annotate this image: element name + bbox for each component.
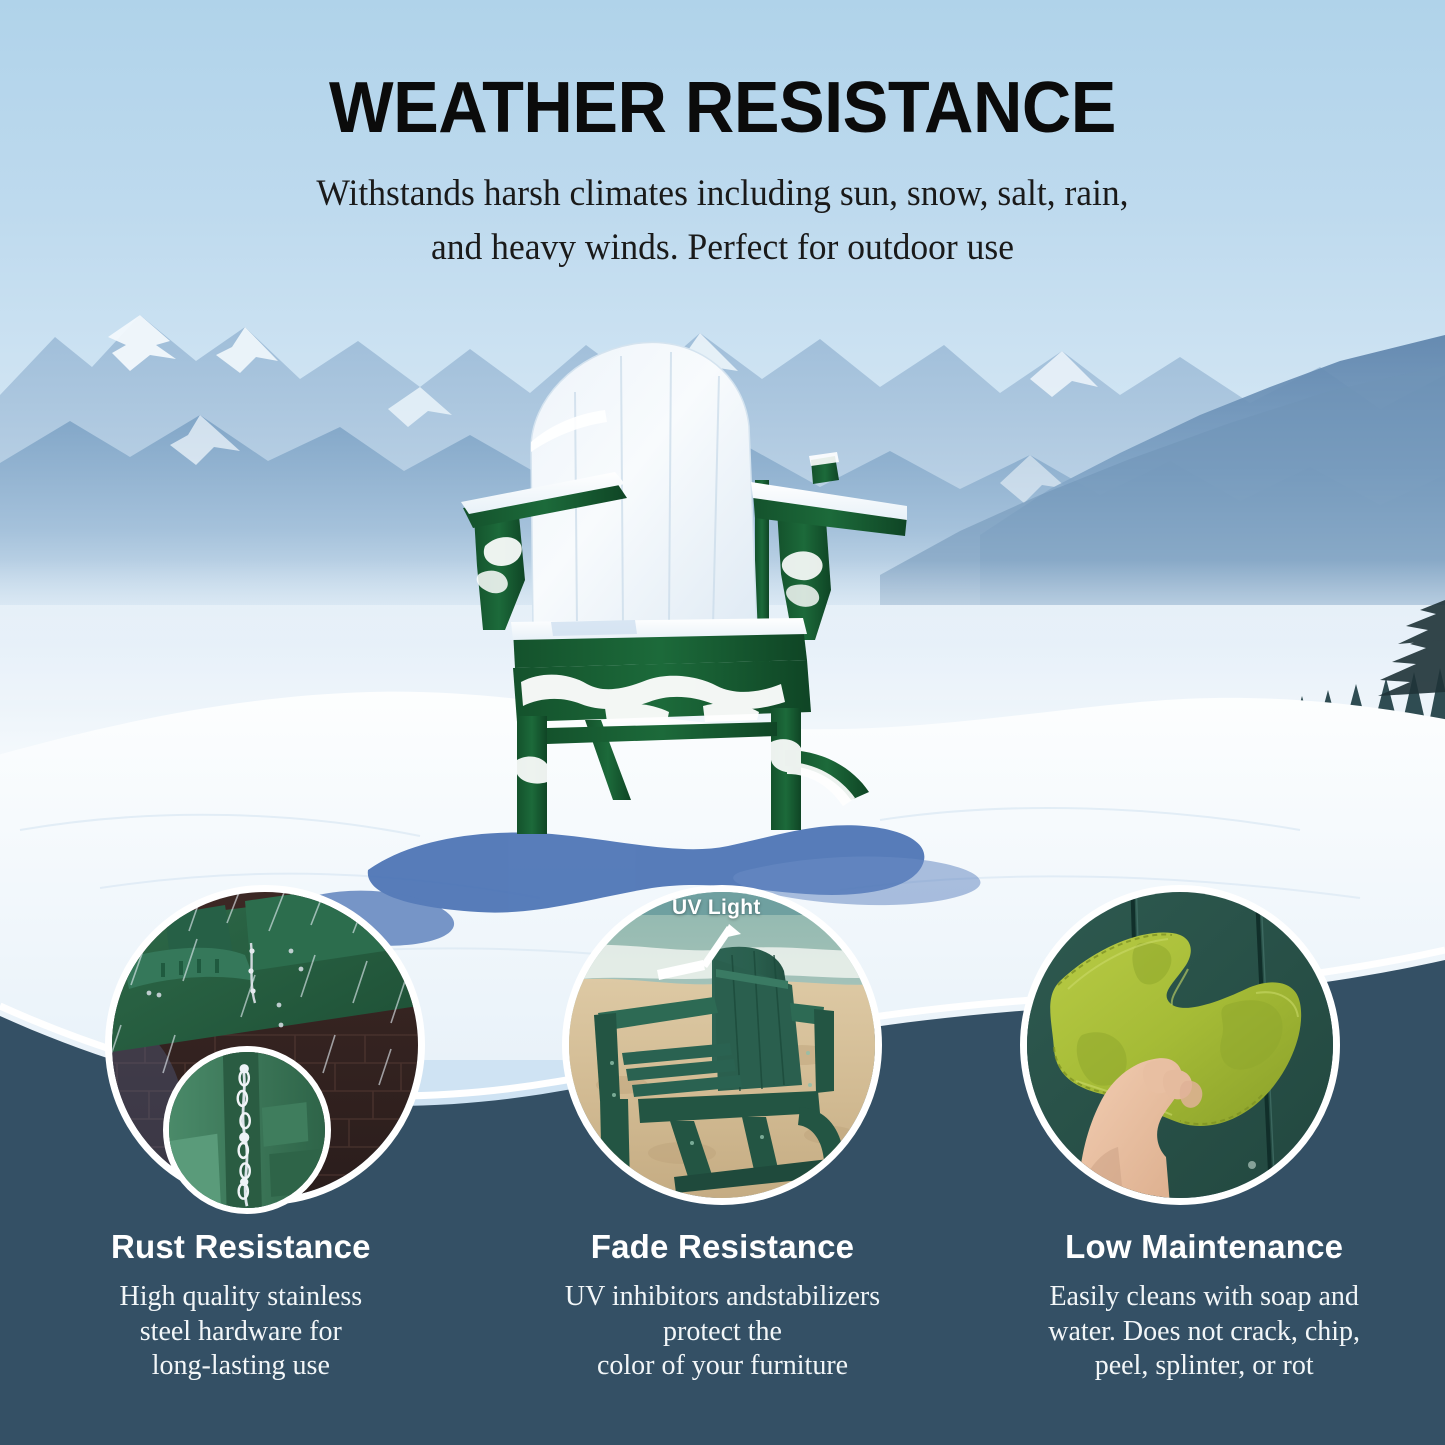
- feature-image-low-maintenance: [1020, 885, 1340, 1205]
- feature-body-line-2: water. Does not crack, chip,: [1048, 1316, 1360, 1347]
- feature-body-line-1: UV inhibitors andstabilizers: [565, 1281, 880, 1312]
- feature-body-line-3: color of your furniture: [597, 1350, 848, 1381]
- feature-title-fade-resistance: Fade Resistance: [508, 1228, 938, 1266]
- header-block: WEATHER RESISTANCE Withstands harsh clim…: [0, 0, 1445, 275]
- feature-title-low-maintenance: Low Maintenance: [989, 1228, 1419, 1266]
- feature-rust-resistance: Rust Resistance High quality stainless s…: [0, 1228, 482, 1384]
- page-title: WEATHER RESISTANCE: [36, 0, 1409, 145]
- feature-body-line-2: steel hardware for: [140, 1316, 342, 1347]
- feature-low-maintenance: Low Maintenance Easily cleans with soap …: [963, 1228, 1445, 1384]
- feature-inset-image-stainless-chain: [163, 1046, 331, 1214]
- feature-body-rust-resistance: High quality stainless steel hardware fo…: [26, 1280, 456, 1384]
- uv-light-arrow-icon: [655, 920, 765, 986]
- uv-light-label: UV Light: [672, 896, 761, 920]
- feature-body-line-1: High quality stainless: [120, 1281, 363, 1312]
- feature-title-rust-resistance: Rust Resistance: [26, 1228, 456, 1266]
- feature-caption-row: Rust Resistance High quality stainless s…: [0, 1228, 1445, 1384]
- subtitle-line-1: Withstands harsh climates including sun,…: [316, 173, 1128, 214]
- feature-body-line-3: long-lasting use: [152, 1350, 330, 1381]
- page-subtitle: Withstands harsh climates including sun,…: [29, 145, 1416, 274]
- feature-body-line-3: peel, splinter, or rot: [1095, 1350, 1314, 1381]
- feature-body-low-maintenance: Easily cleans with soap and water. Does …: [989, 1280, 1419, 1384]
- feature-body-line-2: protect the: [663, 1316, 782, 1347]
- subtitle-line-2: and heavy winds. Perfect for outdoor use: [431, 227, 1014, 268]
- infographic-canvas: WEATHER RESISTANCE Withstands harsh clim…: [0, 0, 1445, 1445]
- hero-snow-covered-chair-image: [455, 330, 925, 850]
- feature-body-fade-resistance: UV inhibitors andstabilizers protect the…: [508, 1280, 938, 1384]
- feature-body-line-1: Easily cleans with soap and: [1049, 1281, 1358, 1312]
- feature-fade-resistance: Fade Resistance UV inhibitors andstabili…: [482, 1228, 964, 1384]
